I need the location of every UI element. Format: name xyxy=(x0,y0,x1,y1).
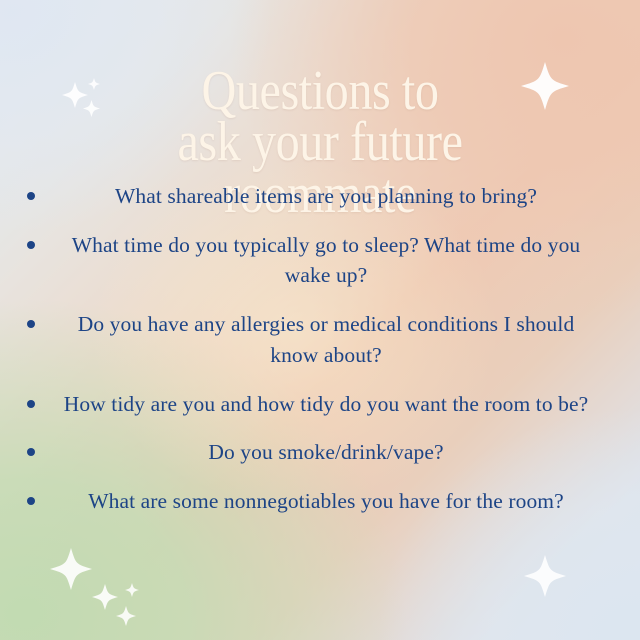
sparkle-bottom-left-tiny xyxy=(125,583,139,597)
bullet-dot-icon xyxy=(27,320,35,328)
list-item: Do you smoke/drink/vape? xyxy=(0,437,640,468)
poster-canvas: Questions to ask your future roommate Wh… xyxy=(0,0,640,640)
question-text: What are some nonnegotiables you have fo… xyxy=(58,486,594,517)
list-item: Do you have any allergies or medical con… xyxy=(0,309,640,370)
list-item: How tidy are you and how tidy do you wan… xyxy=(0,389,640,420)
question-text: Do you smoke/drink/vape? xyxy=(58,437,594,468)
bullet-dot-icon xyxy=(27,400,35,408)
question-text: Do you have any allergies or medical con… xyxy=(58,309,594,370)
title-line-2: ask your future xyxy=(45,117,595,169)
sparkle-bottom-left-large xyxy=(50,548,92,590)
question-text: What shareable items are you planning to… xyxy=(58,181,594,212)
sparkle-bottom-left-medium xyxy=(92,584,118,610)
sparkle-bottom-left-small xyxy=(116,606,136,626)
question-text: How tidy are you and how tidy do you wan… xyxy=(58,389,594,420)
bullet-dot-icon xyxy=(27,241,35,249)
bullet-dot-icon xyxy=(27,192,35,200)
sparkle-bottom-right-large xyxy=(524,555,566,597)
bullet-dot-icon xyxy=(27,448,35,456)
list-item: What shareable items are you planning to… xyxy=(0,181,640,212)
title-line-1: Questions to xyxy=(45,66,595,118)
question-text: What time do you typically go to sleep? … xyxy=(58,230,594,291)
list-item: What are some nonnegotiables you have fo… xyxy=(0,486,640,517)
list-item: What time do you typically go to sleep? … xyxy=(0,230,640,291)
question-list: What shareable items are you planning to… xyxy=(0,181,640,517)
bullet-dot-icon xyxy=(27,497,35,505)
